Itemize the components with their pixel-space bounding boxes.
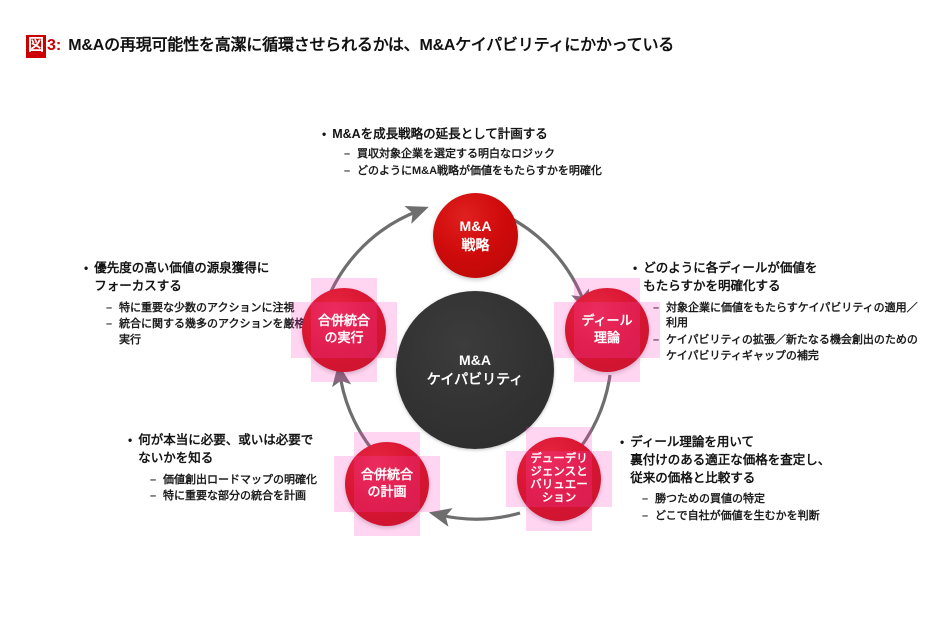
callout-left-headline-text: 優先度の高い価値の源泉獲得に フォーカスする (94, 260, 269, 296)
node-integration-execution[interactable]: 合併統合 の実行 (302, 288, 386, 372)
node-dd-line-3: バリュエー (530, 479, 588, 492)
list-item-text: 対象企業に価値をもたらすケイパビリティの適用／利用 (666, 301, 925, 333)
cycle-diagram: M&A ケイパビリティ M&A 戦略 ディール 理論 デューデリ ジェンスと バ… (0, 0, 950, 625)
list-item-text: 特に重要な部分の統合を計画 (163, 489, 306, 505)
node-strategy-line-1: M&A (460, 217, 492, 235)
callout-top: • M&Aを成長戦略の延長として計画する – 買収対象企業を選定する明白なロジッ… (322, 126, 662, 181)
callout-left-line-1: 優先度の高い価値の源泉獲得に (94, 261, 269, 275)
bullet-icon: • (633, 260, 637, 277)
list-item: – どのようにM&A戦略が価値をもたらすかを明確化 (344, 164, 662, 180)
callout-left: • 優先度の高い価値の源泉獲得に フォーカスする – 特に重要な少数のアクション… (84, 260, 324, 350)
node-deal-thesis[interactable]: ディール 理論 (565, 288, 649, 372)
callout-left-headline: • 優先度の高い価値の源泉獲得に フォーカスする (84, 260, 324, 296)
center-hub: M&A ケイパビリティ (396, 291, 554, 449)
dash-icon: – (642, 509, 655, 525)
node-dd-line-1: デューデリ (530, 453, 588, 466)
callout-br-line-2: 裏付けのある適正な価格を査定し、 (630, 453, 830, 467)
list-item: – 勝つための買値の特定 (642, 492, 920, 508)
node-strategy-line-2: 戦略 (462, 236, 490, 254)
node-integration-planning[interactable]: 合併統合 の計画 (345, 442, 429, 526)
callout-top-sublist: – 買収対象企業を選定する明白なロジック – どのようにM&A戦略が価値をもたら… (344, 147, 662, 180)
list-item: – 買収対象企業を選定する明白なロジック (344, 147, 662, 163)
hub-line-1: M&A (459, 351, 491, 370)
callout-bottom-left-headline-text: 何が本当に必要、或いは必要で ないかを知る (138, 432, 313, 468)
node-dd-line-2: ジェンスと (530, 466, 587, 479)
callout-bl-line-1: 何が本当に必要、或いは必要で (138, 433, 313, 447)
hub-line-2: ケイパビリティ (427, 370, 524, 389)
callout-bl-line-2: ないかを知る (138, 451, 213, 465)
callout-bottom-right-sublist: – 勝つための買値の特定 – どこで自社が価値を生むかを判断 (642, 492, 920, 525)
node-execute-line-2: の実行 (324, 330, 363, 347)
list-item-text: ケイパビリティの拡張／新たなる機会創出のためのケイパビリティギャップの補完 (666, 333, 925, 365)
node-dd-line-4: ション (542, 492, 577, 505)
node-deal-line-1: ディール (581, 313, 632, 330)
dash-icon: – (106, 317, 119, 333)
bullet-icon: • (128, 432, 132, 449)
callout-right-headline-text: どのように各ディールが価値を もたらすかを明確化する (643, 260, 817, 296)
dash-icon: – (642, 492, 655, 508)
list-item-text: どのようにM&A戦略が価値をもたらすかを明確化 (357, 164, 602, 180)
list-item-text: 特に重要な少数のアクションに注視 (119, 301, 294, 317)
callout-bottom-right-headline: • ディール理論を用いて 裏付けのある適正な価格を査定し、 従来の価格と比較する (620, 434, 920, 487)
list-item-text: 価値創出ロードマップの明確化 (163, 473, 317, 489)
node-execute-line-1: 合併統合 (318, 313, 370, 330)
callout-right-headline-line-2: もたらすかを明確化する (643, 279, 780, 293)
arrow-duediligence-to-plan (440, 513, 520, 519)
node-plan-line-1: 合併統合 (361, 467, 413, 484)
callout-br-line-3: 従来の価格と比較する (630, 471, 755, 485)
dash-icon: – (150, 489, 163, 505)
callout-right-headline-line-1: どのように各ディールが価値を (643, 261, 817, 275)
callout-left-line-2: フォーカスする (94, 279, 182, 293)
list-item: – 対象企業に価値をもたらすケイパビリティの適用／利用 (653, 301, 925, 333)
callout-right: • どのように各ディールが価値を もたらすかを明確化する – 対象企業に価値をも… (633, 260, 925, 366)
dash-icon: – (344, 164, 357, 180)
node-plan-line-2: の計画 (367, 484, 406, 501)
dash-icon: – (150, 473, 163, 489)
node-ma-strategy[interactable]: M&A 戦略 (433, 193, 518, 278)
bullet-icon: • (620, 434, 624, 451)
callout-bottom-right-headline-text: ディール理論を用いて 裏付けのある適正な価格を査定し、 従来の価格と比較する (630, 434, 830, 487)
dash-icon: – (106, 301, 119, 317)
callout-top-headline-text: M&Aを成長戦略の延長として計画する (332, 126, 548, 144)
bullet-icon: • (322, 126, 326, 143)
list-item: – ケイパビリティの拡張／新たなる機会創出のためのケイパビリティギャップの補完 (653, 333, 925, 365)
callout-bottom-right: • ディール理論を用いて 裏付けのある適正な価格を査定し、 従来の価格と比較する… (620, 434, 920, 526)
node-due-diligence-valuation[interactable]: デューデリ ジェンスと バリュエー ション (517, 437, 601, 521)
callout-br-line-1: ディール理論を用いて (630, 435, 754, 449)
list-item-text: 買収対象企業を選定する明白なロジック (357, 147, 555, 163)
dash-icon: – (344, 147, 357, 163)
list-item: – どこで自社が価値を生むかを判断 (642, 509, 920, 525)
callout-top-headline: • M&Aを成長戦略の延長として計画する (322, 126, 662, 144)
callout-right-sublist: – 対象企業に価値をもたらすケイパビリティの適用／利用 – ケイパビリティの拡張… (653, 301, 925, 366)
bullet-icon: • (84, 260, 88, 277)
callout-right-headline: • どのように各ディールが価値を もたらすかを明確化する (633, 260, 925, 296)
list-item-text: 勝つための買値の特定 (655, 492, 765, 508)
list-item-text: どこで自社が価値を生むかを判断 (655, 509, 820, 525)
node-deal-line-2: 理論 (594, 330, 620, 347)
